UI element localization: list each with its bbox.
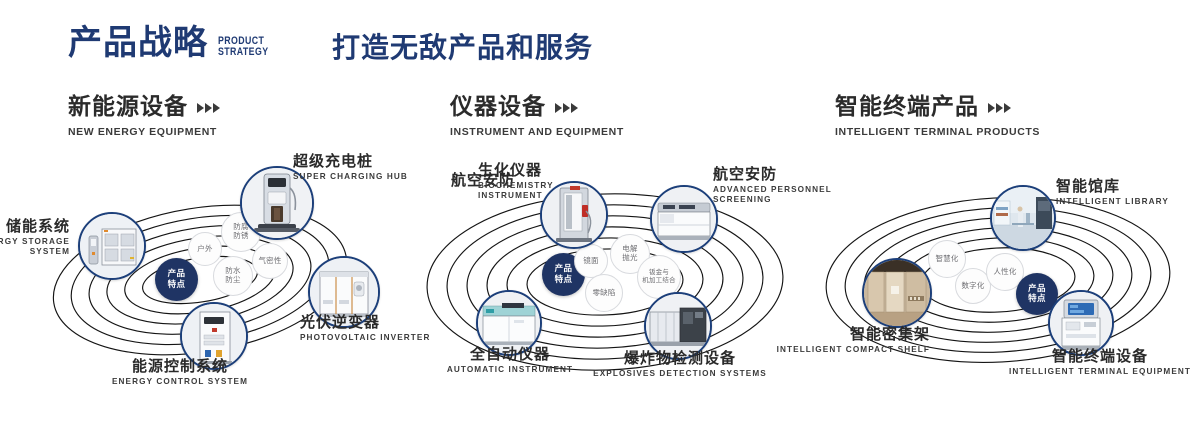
feature-label-line2: 机加工结合 (642, 277, 676, 285)
section-title-cn: 新能源设备 (68, 96, 188, 119)
label-cn: 智能馆库 (1056, 178, 1200, 195)
page-title-en: PRODUCT STRATEGY (218, 36, 268, 58)
feature-label: 智慧化 (935, 255, 958, 264)
label-energy-storage: 储能系统 ENERGY STORAGE SYSTEM (0, 218, 70, 258)
label-en: BIOCHEMISTRY INSTRUMENT (478, 181, 608, 202)
label-cn: 智能终端设备 (1000, 348, 1200, 365)
feature-core-bubble: 产品 特点 (155, 258, 198, 301)
screening-machine-art (652, 187, 716, 251)
label-cn: 全自动仪器 (420, 346, 600, 363)
label-en: ENERGY STORAGE SYSTEM (0, 237, 70, 258)
self-service-kiosk-art (1050, 292, 1112, 354)
feature-label: 户外 (197, 245, 212, 254)
label-en: AUTOMATIC INSTRUMENT (420, 365, 600, 376)
core-line-2: 特点 (168, 280, 186, 290)
cluster-intelligent-terminal: 智慧化 数字化 人性化 产品 特点 (800, 150, 1200, 400)
poster-canvas: 产品战略 PRODUCT STRATEGY 打造无敌产品和服务 新能源设备 NE… (0, 0, 1200, 422)
cluster-new-energy: 产品 特点 户外 防腐 防锈 防水 防尘 气密性 (0, 150, 420, 400)
label-intelligent-terminal-equipment: 智能终端设备 INTELLIGENT TERMINAL EQUIPMENT (1000, 348, 1200, 377)
label-cn: 智能密集架 (740, 326, 930, 343)
label-en: INTELLIGENT TERMINAL EQUIPMENT (1000, 367, 1200, 378)
label-energy-control: 能源控制系统 ENERGY CONTROL SYSTEM (85, 358, 275, 387)
core-line-1: 产品 (555, 264, 573, 274)
page-title-cn: 产品战略 (68, 26, 208, 60)
section-title-cn: 仪器设备 (450, 96, 546, 119)
core-line-1: 产品 (168, 269, 186, 279)
section-heading-new-energy: 新能源设备 NEW ENERGY EQUIPMENT (68, 96, 220, 138)
feature-label-line2: 防尘 (225, 276, 240, 285)
node-advanced-personnel-screening[interactable] (650, 185, 718, 253)
chevron-right-icon (197, 103, 220, 113)
page-title: 产品战略 PRODUCT STRATEGY (68, 26, 281, 60)
core-line-2: 特点 (1028, 294, 1046, 304)
feature-label: 数字化 (961, 282, 984, 291)
section-title-en: INSTRUMENT AND EQUIPMENT (450, 126, 624, 138)
node-energy-storage[interactable] (78, 212, 146, 280)
label-cn: 生化仪器 (478, 162, 608, 179)
feature-bubble-airtight: 气密性 (252, 243, 288, 279)
feature-bubble-outdoor: 户外 (188, 232, 222, 266)
label-en: INTELLIGENT LIBRARY (1056, 197, 1200, 208)
section-title-en: NEW ENERGY EQUIPMENT (68, 126, 220, 138)
feature-bubble-mirror: 镜面 (574, 244, 608, 278)
section-heading-instrument: 仪器设备 INSTRUMENT AND EQUIPMENT (450, 96, 624, 138)
feature-bubble-waterproof: 防水 防尘 (213, 256, 253, 296)
label-automatic-instrument: 全自动仪器 AUTOMATIC INSTRUMENT (420, 346, 600, 375)
library-interior-art (992, 187, 1054, 249)
label-cn: 能源控制系统 (85, 358, 275, 375)
label-en: EXPLOSIVES DETECTION SYSTEMS (580, 369, 780, 380)
page-subtitle: 打造无敌产品和服务 (332, 34, 593, 62)
cluster-instrument: 产品 特点 镜面 电解 抛光 零缺陷 钣金与 机加工结合 航空安防 (400, 150, 820, 400)
chevron-right-icon (555, 103, 578, 113)
label-biochemistry-instrument: 生化仪器 BIOCHEMISTRY INSTRUMENT (478, 162, 608, 202)
feature-label-line2: 抛光 (622, 254, 637, 263)
compact-shelf-art (864, 260, 930, 326)
core-line-2: 特点 (555, 275, 573, 285)
core-line-1: 产品 (1028, 284, 1046, 294)
node-intelligent-library[interactable] (990, 185, 1056, 251)
feature-bubble-zero-defect: 零缺陷 (585, 274, 623, 312)
feature-label: 人性化 (993, 268, 1016, 277)
chevron-right-icon (988, 103, 1011, 113)
label-cn: 储能系统 (0, 218, 70, 235)
energy-storage-cabinet-art (80, 214, 144, 278)
feature-label: 零缺陷 (592, 289, 615, 298)
section-heading-intelligent-terminal: 智能终端产品 INTELLIGENT TERMINAL PRODUCTS (835, 96, 1040, 138)
page-title-en-line2: STRATEGY (218, 47, 268, 58)
section-title-en: INTELLIGENT TERMINAL PRODUCTS (835, 126, 1040, 138)
section-title-cn: 智能终端产品 (835, 96, 979, 119)
label-intelligent-library: 智能馆库 INTELLIGENT LIBRARY (1056, 178, 1200, 207)
node-intelligent-compact-shelf[interactable] (862, 258, 932, 328)
feature-label: 气密性 (258, 257, 281, 266)
feature-label: 镜面 (583, 257, 598, 266)
label-intelligent-compact-shelf: 智能密集架 INTELLIGENT COMPACT SHELF (740, 326, 930, 355)
label-en: ENERGY CONTROL SYSTEM (85, 377, 275, 388)
label-en: INTELLIGENT COMPACT SHELF (740, 345, 930, 356)
